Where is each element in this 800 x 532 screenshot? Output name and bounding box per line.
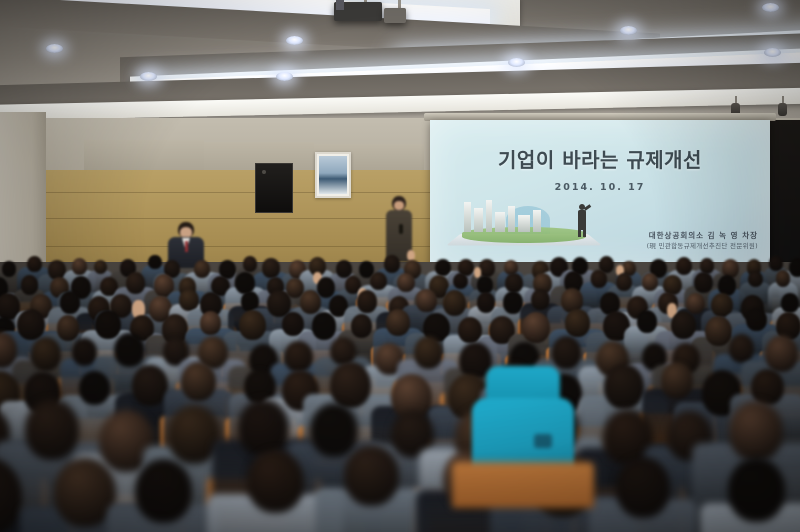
audience-member-head [729, 401, 782, 461]
audience-member-head [477, 292, 495, 312]
audience-member-head [262, 258, 279, 277]
framed-picture [315, 152, 351, 198]
audience-member-head [60, 291, 80, 314]
audience-member-head [95, 310, 121, 339]
audience-member-head [135, 459, 192, 523]
audience-member-head [522, 312, 550, 343]
audience-hand [407, 250, 415, 261]
audience-member-head [671, 311, 696, 339]
audience-member-head [200, 311, 221, 335]
audience-member-head [746, 308, 767, 331]
audience-member-head [443, 290, 466, 316]
audience-member-head [247, 450, 304, 514]
audience-member-head [414, 336, 443, 368]
audience-member-head [300, 290, 321, 314]
slide-date: 2014. 10. 17 [430, 182, 770, 193]
audience-member-head [661, 362, 694, 399]
audience-member-head [386, 309, 410, 336]
projector-lens-housing [384, 8, 406, 23]
audience-member-head [776, 270, 791, 287]
audience-member-head [27, 256, 41, 272]
audience-member-head [239, 310, 266, 340]
audience-member-head [397, 273, 414, 293]
audience-member-head [751, 369, 783, 405]
audience-member-head [17, 309, 45, 340]
slide-title: 기업이 바라는 규제개선 [430, 144, 770, 173]
audience-member-head [2, 261, 16, 277]
audience-member-head [312, 312, 336, 339]
audience-chair [452, 462, 594, 508]
audience-member-head [25, 399, 79, 460]
audience-member-head [477, 276, 493, 293]
audience-member-head [21, 275, 38, 294]
microphone [399, 224, 403, 234]
audience-member-head [330, 337, 356, 366]
audience-member-head [54, 458, 116, 527]
recessed-downlight [276, 72, 293, 81]
audience-member-head [79, 371, 110, 406]
audience-member-head [729, 334, 755, 363]
photo-scene: 기업이 바라는 규제개선 2014. 10. 17 대한상공회의소 김 녹 영 … [0, 0, 800, 532]
audience-member-head [531, 289, 550, 310]
audience-member-head [637, 310, 657, 333]
recessed-downlight [764, 48, 781, 57]
ceiling [0, 0, 800, 130]
audience-member-head [479, 259, 495, 276]
audience-member-head [179, 289, 199, 311]
audience-member-head [416, 289, 436, 312]
audience-member-head [781, 293, 799, 313]
audience-member-head [705, 316, 732, 346]
audience-member-head [243, 256, 257, 271]
audience-member-head [357, 290, 378, 313]
track-spotlight [778, 103, 787, 116]
audience-member-head [114, 333, 144, 367]
audience-member-head [31, 337, 61, 371]
audience-member-head [616, 273, 632, 291]
wall-speaker [255, 163, 293, 213]
audience-member-head [57, 315, 80, 341]
recessed-downlight [620, 26, 637, 35]
slide-illustration [454, 198, 594, 250]
recessed-downlight [140, 72, 157, 81]
audience-member-head [194, 260, 210, 278]
audience-member-head [769, 256, 782, 271]
audience-member-head [765, 335, 798, 372]
audience-member-head [616, 457, 670, 518]
audience-member-head [604, 364, 644, 408]
audience-member-head [238, 399, 289, 456]
recessed-downlight [46, 44, 63, 53]
audience-member-head [336, 260, 352, 278]
audience-member-head [676, 257, 692, 275]
audience-member-head [789, 258, 800, 277]
dark-wall-right [770, 120, 800, 270]
audience-member-head [72, 338, 97, 366]
recessed-downlight [286, 36, 303, 45]
recessed-downlight [508, 58, 525, 67]
projection-screen: 기업이 바라는 규제개선 2014. 10. 17 대한상공회의소 김 녹 영 … [430, 120, 770, 270]
slide-credit-secondary: (現 민관합동규제개선추진단 전문위원) [647, 240, 758, 250]
audience-member-head [132, 365, 168, 406]
audience-member-head [694, 272, 713, 293]
audience-member-head [344, 445, 399, 507]
audience-member-head [310, 403, 358, 457]
recessed-downlight [762, 3, 779, 12]
audience-member-head [370, 272, 387, 291]
audience-member-head [351, 314, 372, 338]
audience-member-head [552, 336, 581, 368]
audience-member-head [284, 341, 312, 373]
audience-member-head [591, 270, 607, 287]
audience-member-head [748, 271, 763, 288]
audience-member-head [330, 362, 371, 408]
audience-member-head [565, 309, 590, 337]
audience-member-head [384, 255, 400, 273]
audience-member-head [148, 255, 161, 270]
audience-member-head [181, 362, 216, 401]
projector-cable [336, 0, 344, 10]
audience-member-head [126, 272, 145, 293]
audience-member-head [728, 458, 785, 522]
slide-figure-icon [574, 202, 590, 236]
